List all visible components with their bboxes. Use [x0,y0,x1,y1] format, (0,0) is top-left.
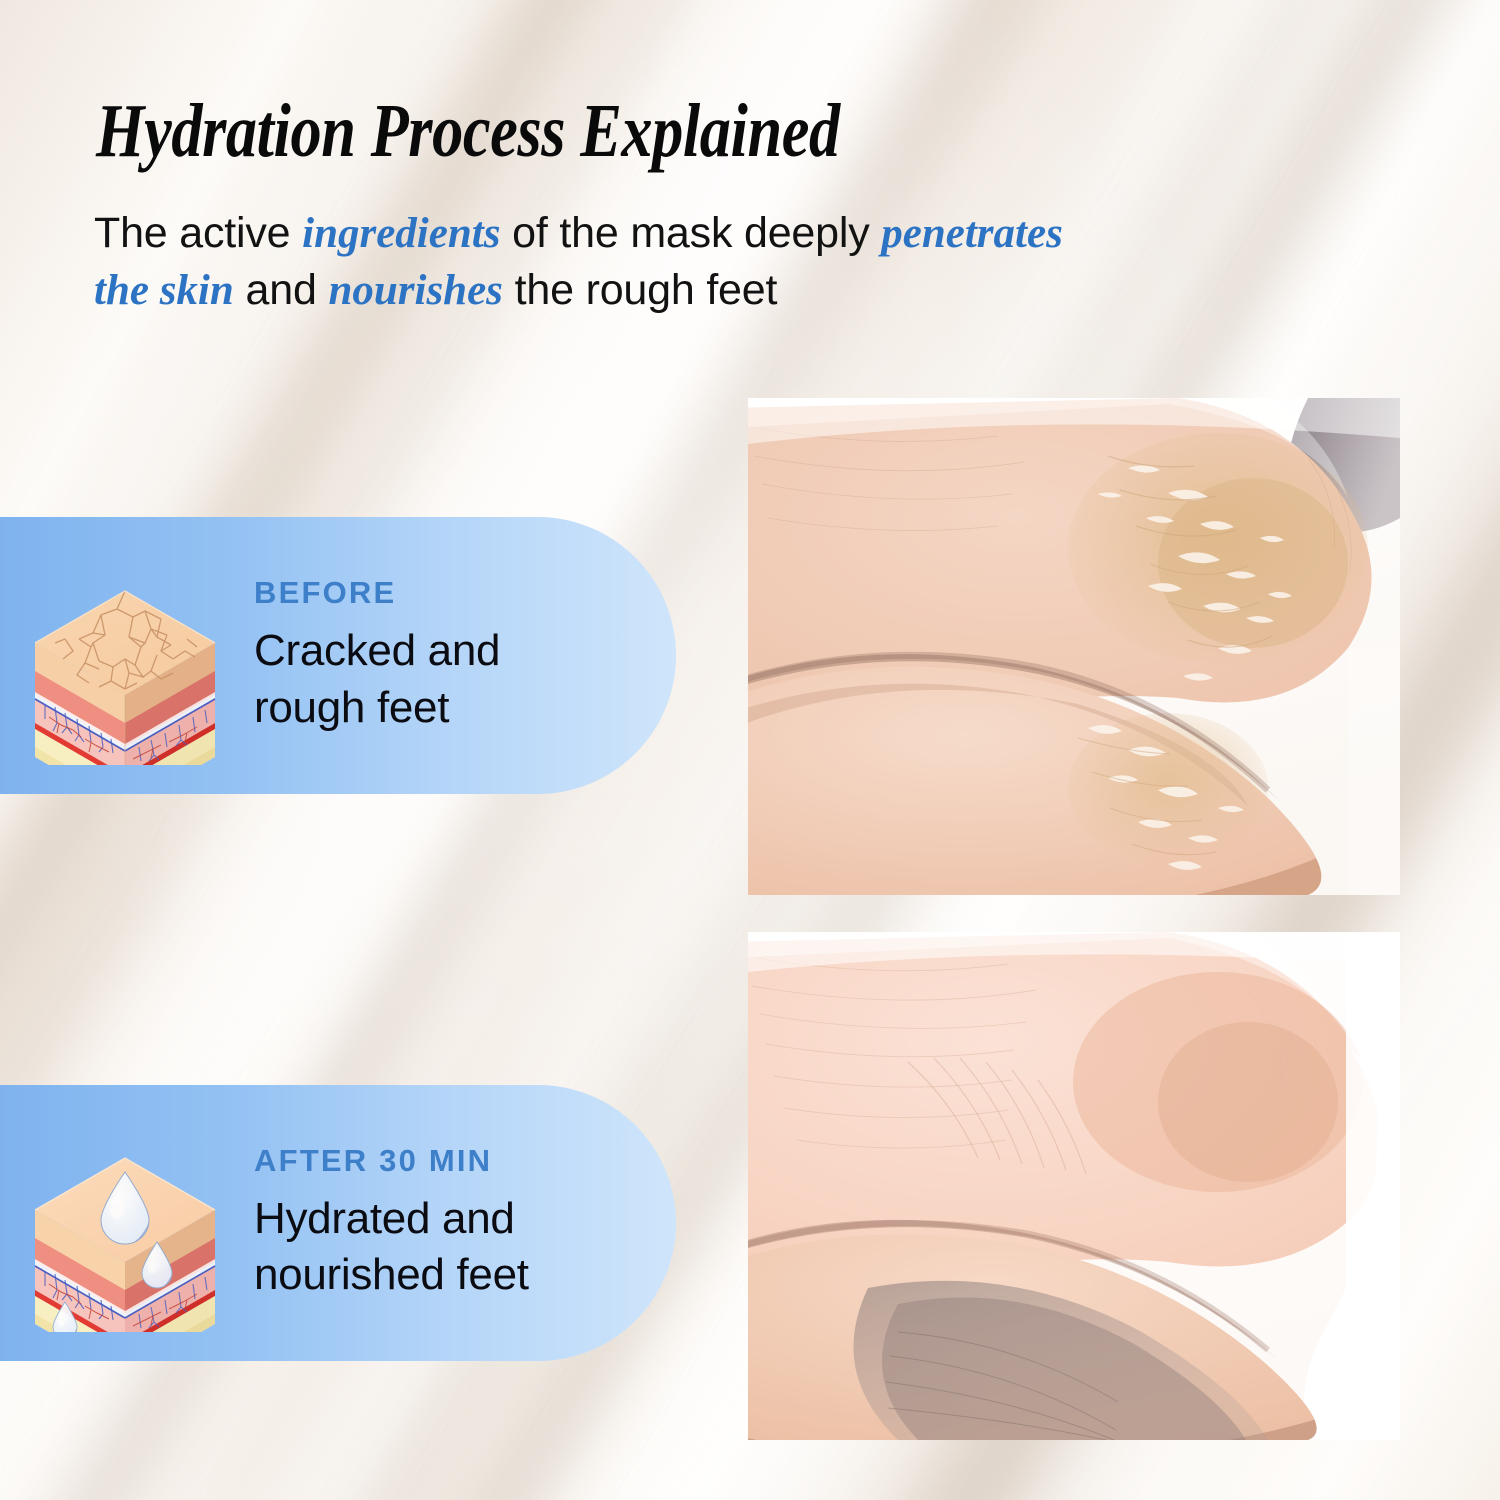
page-title: Hydration Process Explained [96,93,840,169]
skin-cross-section-hydrated-icon [21,1114,229,1332]
after-badge-line-1: Hydrated and [254,1191,529,1247]
before-badge-text: BEFORE Cracked and rough feet [250,575,500,736]
after-badge: AFTER 30 MIN Hydrated and nourished feet [0,1085,676,1361]
before-feet-photo [748,398,1400,895]
before-badge-kicker: BEFORE [254,575,500,611]
after-badge-text: AFTER 30 MIN Hydrated and nourished feet [250,1143,529,1304]
after-badge-kicker: AFTER 30 MIN [254,1143,529,1179]
subtitle-highlight-nourishes: nourishes [328,267,502,314]
subtitle-text-3: and [234,266,329,314]
subtitle-highlight-ingredients: ingredients [302,210,500,257]
before-badge-line-1: Cracked and [254,623,500,679]
subtitle-text-4: the rough feet [503,266,777,314]
before-badge-line-2: rough feet [254,680,500,736]
before-badge: BEFORE Cracked and rough feet [0,517,676,794]
after-feet-photo [748,932,1400,1440]
skin-cross-section-cracked-icon [21,547,229,765]
after-badge-figure [0,1114,250,1332]
page-subtitle: The active ingredients of the mask deepl… [94,205,1094,319]
after-badge-line-2: nourished feet [254,1247,529,1303]
subtitle-text-1: The active [94,209,302,257]
before-badge-figure [0,547,250,765]
infographic-stage: Hydration Process Explained The active i… [0,0,1500,1500]
subtitle-text-2: of the mask deeply [500,209,881,257]
